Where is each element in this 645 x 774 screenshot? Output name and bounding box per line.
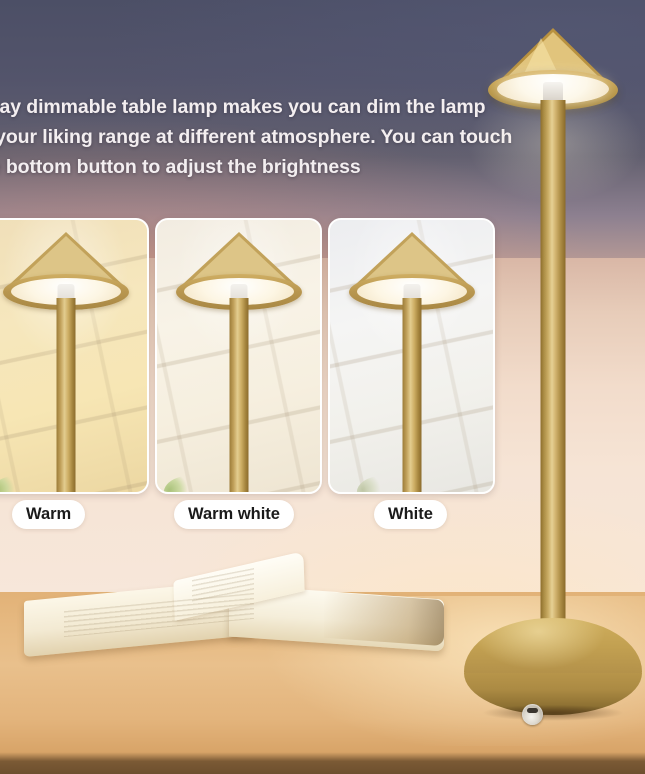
product-image-stage: -way dimmable table lamp makes you can d…	[0, 0, 645, 774]
touch-button-icon[interactable]	[522, 704, 543, 725]
color-mode-card-warm[interactable]	[0, 218, 149, 494]
color-mode-label-warm: Warm	[12, 500, 85, 529]
lamp-pole	[402, 298, 421, 494]
lamp-pole	[56, 298, 75, 494]
mini-lamp-warm-white	[164, 232, 314, 492]
color-mode-card-warm-white[interactable]	[155, 218, 322, 494]
lamp-pole	[540, 100, 565, 630]
mini-lamp-warm	[0, 232, 141, 492]
main-product-lamp	[460, 28, 645, 728]
charging-port-slot	[527, 708, 538, 713]
open-book-icon	[24, 566, 454, 658]
color-mode-label-warm-white: Warm white	[174, 500, 294, 529]
book-spine	[324, 592, 444, 646]
lamp-pole	[229, 298, 248, 494]
lamp-base-shadow	[458, 704, 645, 726]
color-mode-card-row	[0, 218, 512, 490]
color-mode-label-white: White	[374, 500, 447, 529]
